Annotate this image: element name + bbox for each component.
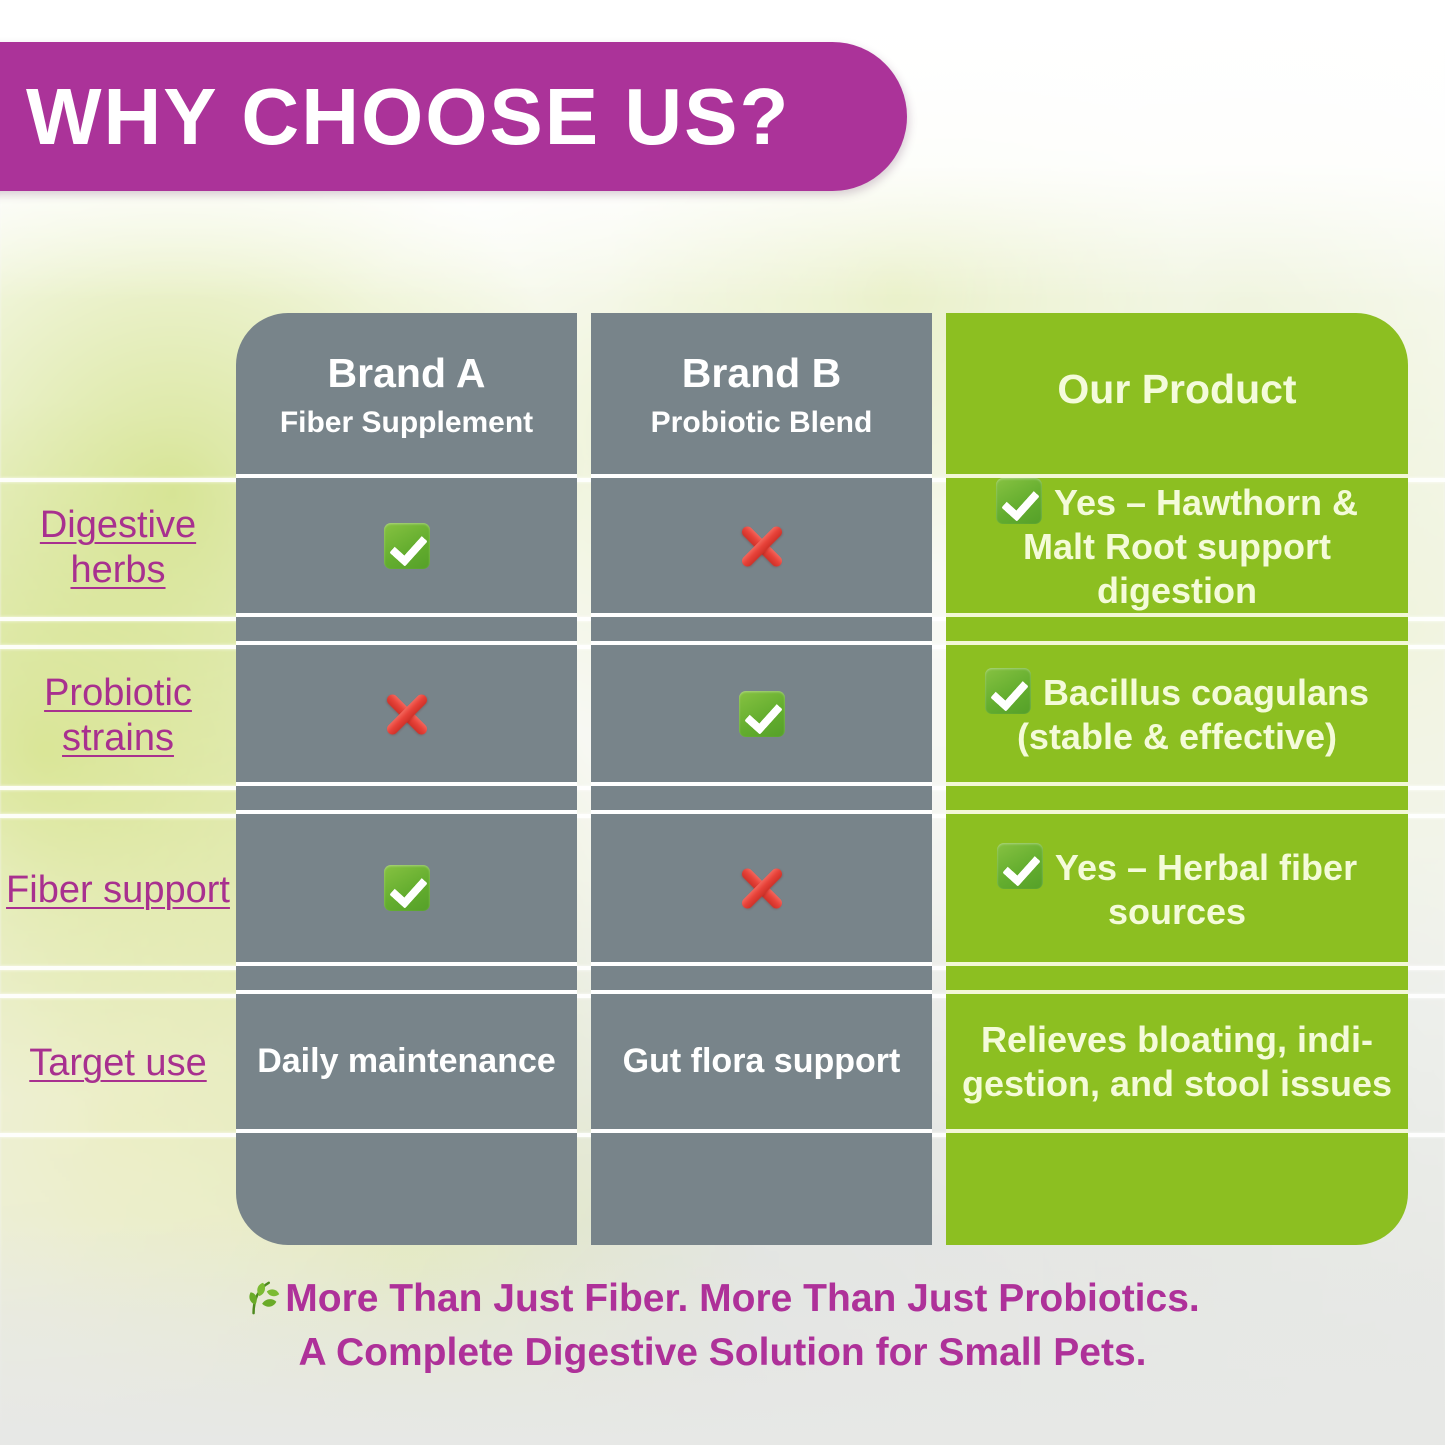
brand-a-name: Brand A	[328, 352, 486, 395]
cell-divider	[236, 962, 577, 966]
cell-value: Daily maintenance	[257, 1042, 556, 1080]
brand-b-name: Brand B	[682, 352, 841, 395]
brand-b-subtitle: Probiotic Blend	[651, 407, 873, 439]
cell-divider	[591, 962, 932, 966]
cell-value-wrapper: Bacillus coagulans (stable & effective)	[956, 668, 1398, 759]
check-icon	[384, 523, 430, 569]
comparison-table: Brand A Fiber Supplement Daily maintenan…	[236, 313, 1408, 1245]
x-icon	[732, 516, 792, 576]
cell-value: Yes – Herbal fiber sources	[1055, 847, 1357, 932]
cell-divider	[236, 782, 577, 786]
row-label-text: Fiber support	[6, 868, 230, 913]
row-label-text: Probiotic strains	[0, 671, 236, 761]
check-icon	[996, 478, 1042, 524]
cell-value: Yes – Hawthorn & Malt Root support diges…	[1023, 482, 1358, 611]
cell-divider	[946, 1129, 1408, 1133]
cell-brand-a-target-use: Daily maintenance	[236, 994, 577, 1129]
cell-value: Gut flora support	[623, 1042, 901, 1080]
cell-divider	[946, 782, 1408, 786]
tagline-line-2: A Complete Digestive Solution for Small …	[0, 1326, 1445, 1380]
infographic-canvas: WHY CHOOSE US? Brand A Fiber Supplement	[0, 0, 1445, 1445]
column-brand-b: Brand B Probiotic Blend Gut flora suppor…	[591, 313, 932, 1245]
footer-tagline: More Than Just Fiber. More Than Just Pro…	[0, 1272, 1445, 1380]
cell-value-wrapper: Yes – Hawthorn & Malt Root support diges…	[956, 478, 1398, 613]
cell-divider	[591, 613, 932, 617]
page-title: WHY CHOOSE US?	[26, 77, 790, 157]
cell-brand-b-fiber-support	[591, 814, 932, 962]
cell-brand-b-digestive-herbs	[591, 478, 932, 613]
cell-divider	[946, 613, 1408, 617]
why-choose-us-banner: WHY CHOOSE US?	[0, 42, 907, 191]
cell-brand-a-fiber-support	[236, 814, 577, 962]
herb-leaf-icon	[245, 1279, 283, 1317]
cell-divider	[591, 1129, 932, 1133]
cell-value-wrapper: Yes – Herbal fiber sources	[956, 843, 1398, 934]
cell-brand-b-probiotic-strains	[591, 645, 932, 782]
check-icon	[997, 843, 1043, 889]
check-icon	[384, 865, 430, 911]
tagline-line-1: More Than Just Fiber. More Than Just Pro…	[0, 1272, 1445, 1326]
x-icon	[732, 858, 792, 918]
column-our-product: Our Product Yes – Hawthorn & Malt Root s…	[946, 313, 1408, 1245]
cell-our-product-probiotic-strains: Bacillus coagulans (stable & effective)	[946, 645, 1408, 782]
header-cell-our-product: Our Product	[946, 313, 1408, 478]
cell-value: Bacillus coagulans (stable & effective)	[1017, 672, 1369, 757]
cell-value: Relieves bloating, indi­gestion, and sto…	[956, 1018, 1398, 1106]
cell-divider	[946, 962, 1408, 966]
cell-divider	[236, 613, 577, 617]
row-label-probiotic-strains: Probiotic strains	[0, 645, 236, 786]
column-brand-a: Brand A Fiber Supplement Daily maintenan…	[236, 313, 577, 1245]
check-icon	[985, 668, 1031, 714]
x-icon	[377, 684, 437, 744]
check-icon	[739, 691, 785, 737]
row-label-text: Target use	[29, 1041, 206, 1086]
cell-brand-a-probiotic-strains	[236, 645, 577, 782]
tagline-text-1: More Than Just Fiber. More Than Just Pro…	[285, 1277, 1199, 1320]
row-label-text: Digestive herbs	[0, 503, 236, 593]
row-label-target-use: Target use	[0, 994, 236, 1133]
cell-brand-b-target-use: Gut flora support	[591, 994, 932, 1129]
cell-our-product-fiber-support: Yes – Herbal fiber sources	[946, 814, 1408, 962]
brand-a-subtitle: Fiber Supplement	[280, 407, 533, 439]
header-cell-brand-a: Brand A Fiber Supplement	[236, 313, 577, 478]
cell-our-product-digestive-herbs: Yes – Hawthorn & Malt Root support diges…	[946, 478, 1408, 613]
header-cell-brand-b: Brand B Probiotic Blend	[591, 313, 932, 478]
row-label-fiber-support: Fiber support	[0, 814, 236, 966]
our-product-name: Our Product	[1057, 368, 1296, 411]
row-label-digestive-herbs: Digestive herbs	[0, 478, 236, 617]
cell-divider	[236, 1129, 577, 1133]
cell-brand-a-digestive-herbs	[236, 478, 577, 613]
cell-divider	[591, 782, 932, 786]
cell-our-product-target-use: Relieves bloating, indi­gestion, and sto…	[946, 994, 1408, 1129]
